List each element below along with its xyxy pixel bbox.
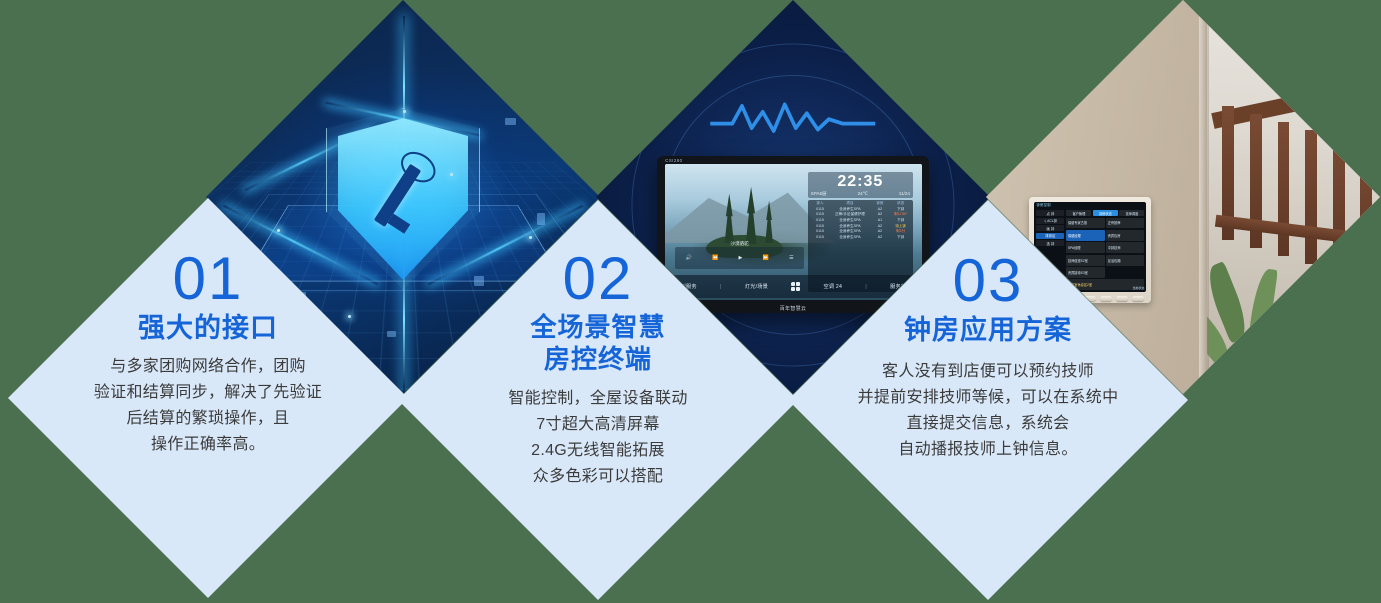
description-line: 验证和结算同步，解决了先验证 <box>94 380 322 406</box>
grid-item[interactable]: 正骨按摩 <box>1106 218 1144 229</box>
playlist-icon[interactable]: ☰ <box>789 255 793 261</box>
grid-item[interactable]: 足浴包厢 <box>1106 255 1144 266</box>
circuit-chip <box>387 331 396 337</box>
sidebar-item-xuanzhong[interactable]: 选 钟 <box>1036 240 1064 246</box>
panel-room-grid[interactable]: 保健专家古按 正骨按摩 保健经理 贵宾包房 SPA经理 中钟技师 技师值班S2室… <box>1066 218 1144 291</box>
table-cell: 全身养生SPA <box>830 235 869 241</box>
circuit-chip <box>474 276 484 286</box>
next-icon[interactable]: ⏩ <box>763 255 769 261</box>
wood-rail-post <box>1360 146 1372 280</box>
play-icon[interactable]: ▶ <box>738 255 742 261</box>
description-line: 智能控制，全屋设备联动 <box>508 386 687 412</box>
clock-time: 22:35 <box>811 174 910 190</box>
plant-leaf <box>1278 313 1325 375</box>
circuit-chip <box>505 118 516 125</box>
divider: | <box>865 284 867 290</box>
grid-item[interactable]: 中钟技师 <box>1106 242 1144 253</box>
media-controls[interactable]: 🔊 ⏪ ▶ ⏩ ☰ <box>675 247 803 269</box>
wood-rail-post <box>1333 138 1345 272</box>
device-bottom-bar[interactable]: 呼叫服务 | 灯光/场景 空调 24 | 服务模式 <box>670 275 917 298</box>
feature-diamond-banner: 蓝色科技电路板上的发光盾牌与钥匙图形 CSI280 沙漠骆驼 <box>0 0 1381 603</box>
air-conditioner-button[interactable]: 空调 24 <box>824 283 843 290</box>
description-line: 并提前安排技师等候，可以在系统中 <box>858 385 1119 411</box>
panel-content: 客户管理 钟房状态 技师调度 保健专家古按 正骨按摩 保健经理 贵宾包房 SPA… <box>1066 204 1144 290</box>
hard-button[interactable] <box>1132 296 1144 301</box>
feature-title-line: 房控终端 <box>530 344 665 376</box>
feature-description: 与多家团购网络合作，团购 验证和结算同步，解决了先验证 后结算的繁琐操作，且 操… <box>94 354 322 458</box>
description-line: 操作正确率高。 <box>94 432 322 458</box>
tab-room-status[interactable]: 钟房状态 <box>1093 210 1118 216</box>
hard-button[interactable] <box>1116 296 1128 301</box>
grid-item[interactable]: 贵宾包房 <box>1106 230 1144 241</box>
feature-number: 01 <box>173 248 244 310</box>
tab-customer-management[interactable]: 客户管理 <box>1066 210 1091 216</box>
circuit-chip <box>537 213 545 225</box>
feature-number: 02 <box>563 248 634 310</box>
device-screen: 沙漠骆驼 🔊 ⏪ ▶ ⏩ ☰ 22:35 SPA6层 24℃ <box>665 164 922 301</box>
sidebar-item-aclzhong[interactable]: くACL钟 <box>1036 218 1064 224</box>
table-cell: A2 <box>870 235 891 241</box>
date-label: 11/24 <box>899 191 910 197</box>
grid-item[interactable]: 保健经理 <box>1066 230 1104 241</box>
temperature-label: 24℃ <box>858 191 868 197</box>
feature-description: 客人没有到店便可以预约技师 并提前安排技师等候，可以在系统中 直接提交信息，系统… <box>858 359 1119 463</box>
device-brand-label: CSI280 <box>665 158 682 163</box>
sidebar-item-huazhong[interactable]: 画 钟 <box>1036 225 1064 231</box>
clock-meta: SPA6层 24℃ 11/24 <box>811 191 910 197</box>
grid-item[interactable]: 保健专家古按 <box>1066 218 1104 229</box>
grid-item[interactable]: 技师值班S2室 <box>1066 255 1104 266</box>
description-line: 2.4G无线智能拓展 <box>508 438 687 464</box>
table-cell: 0115 <box>810 235 831 241</box>
wall-edge <box>1199 0 1209 394</box>
description-line: 与多家团购网络合作，团购 <box>94 354 322 380</box>
sidebar-item-dianzhong[interactable]: 点 钟 <box>1036 210 1064 216</box>
table-cell: 下钟 <box>890 235 911 241</box>
hard-button[interactable] <box>1100 296 1112 301</box>
panel-tabs[interactable]: 客户管理 钟房状态 技师调度 <box>1066 210 1144 216</box>
feature-title-line: 全场景智慧 <box>530 312 665 344</box>
feature-description: 智能控制，全屋设备联动 7寸超大高清屏幕 2.4G无线智能拓展 众多色彩可以搭配 <box>508 386 687 490</box>
feature-title: 全场景智慧 房控终端 <box>530 312 665 375</box>
description-line: 自动播报技师上钟信息。 <box>858 437 1119 463</box>
device-logo: 百年智慧云 <box>780 305 807 312</box>
light-spark <box>277 229 280 232</box>
lighting-scene-button[interactable]: 灯光/场景 <box>745 283 768 290</box>
description-line: 直接提交信息，系统会 <box>858 411 1119 437</box>
circuit-chip <box>253 87 267 96</box>
table-row: 0115 全身养生SPA A2 下钟 <box>810 235 911 241</box>
description-line: 众多色彩可以搭配 <box>508 464 687 490</box>
grid-item[interactable]: SPA经理 <box>1066 242 1104 253</box>
feature-title: 强大的接口 <box>138 312 278 345</box>
apps-grid-icon[interactable] <box>791 282 800 291</box>
volume-icon[interactable]: 🔊 <box>685 255 691 261</box>
clock-and-schedule-panel: 22:35 SPA6层 24℃ 11/24 钟人 项目 钟房 <box>808 172 913 292</box>
clock-widget: 22:35 SPA6层 24℃ 11/24 <box>808 172 913 198</box>
pulse-wave-icon <box>710 100 875 135</box>
feature-title: 钟房应用方案 <box>904 314 1072 347</box>
description-line: 客人没有到店便可以预约技师 <box>858 359 1119 385</box>
panel-status-label: 当前状态 <box>1132 286 1144 290</box>
description-line: 后结算的繁琐操作，且 <box>94 406 322 432</box>
wood-rail-post <box>1305 130 1317 264</box>
divider: | <box>720 284 722 290</box>
sidebar-item-paizhongqu[interactable]: 排钟区 <box>1036 233 1064 239</box>
wood-rail-post <box>1278 122 1290 256</box>
previous-icon[interactable]: ⏪ <box>712 255 718 261</box>
grid-item[interactable]: 贵宾接待S3室 <box>1066 267 1104 278</box>
feature-number: 03 <box>953 250 1024 312</box>
room-label: SPA6层 <box>811 191 827 197</box>
panel-header-label: 钟房控制 <box>1036 203 1050 208</box>
tab-technician-dispatch[interactable]: 技师调度 <box>1119 210 1144 216</box>
smart-panel-device: CSI280 沙漠骆驼 🔊 ⏪ ▶ ⏩ ☰ <box>657 156 929 314</box>
description-line: 7寸超大高清屏幕 <box>508 412 687 438</box>
